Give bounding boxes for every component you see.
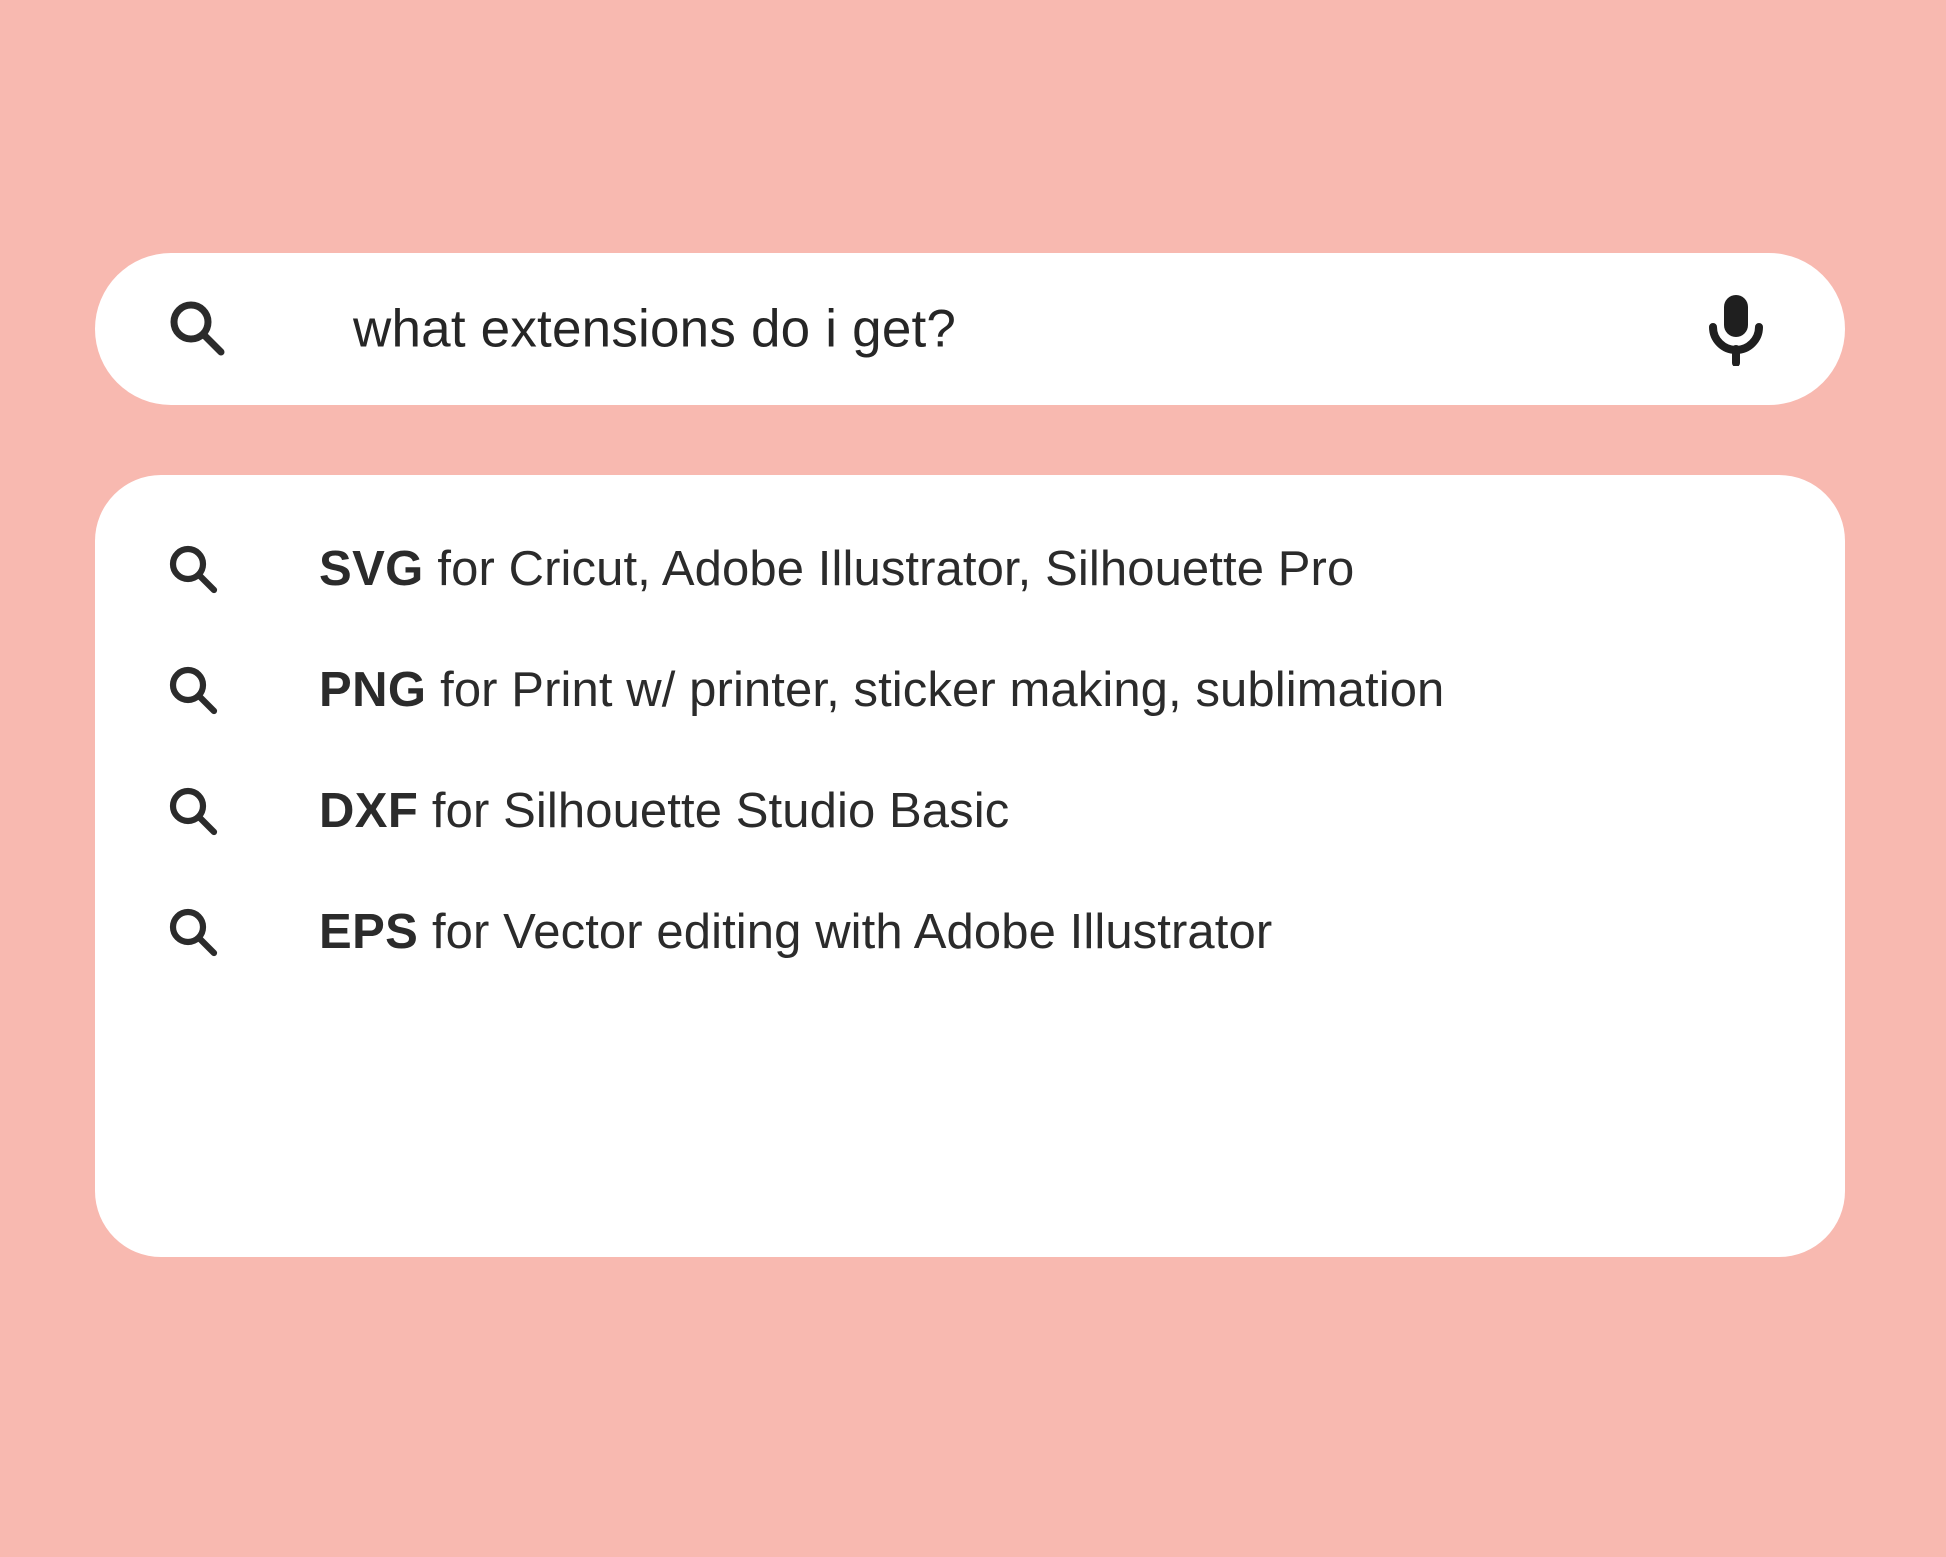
suggestion-row-png[interactable]: PNG for Print w/ printer, sticker making… (95, 630, 1845, 751)
suggestion-row-dxf[interactable]: DXF for Silhouette Studio Basic (95, 751, 1845, 872)
page-canvas: what extensions do i get? SVG for Cricut… (0, 0, 1946, 1557)
search-icon (165, 784, 221, 840)
suggestion-description: for Cricut, Adobe Illustrator, Silhouett… (424, 542, 1355, 596)
search-icon (165, 905, 221, 961)
suggestion-format: PNG (319, 663, 426, 717)
search-input[interactable]: what extensions do i get? (353, 303, 956, 356)
suggestion-label: DXF for Silhouette Studio Basic (319, 787, 1009, 836)
suggestion-description: for Print w/ printer, sticker making, su… (426, 663, 1444, 717)
suggestion-format: DXF (319, 784, 418, 838)
microphone-icon[interactable] (1705, 292, 1767, 366)
search-bar[interactable]: what extensions do i get? (95, 253, 1845, 405)
suggestion-format: EPS (319, 905, 418, 959)
search-icon (165, 663, 221, 719)
suggestion-label: SVG for Cricut, Adobe Illustrator, Silho… (319, 545, 1354, 594)
suggestion-description: for Silhouette Studio Basic (418, 784, 1009, 838)
suggestions-panel: SVG for Cricut, Adobe Illustrator, Silho… (95, 475, 1845, 1257)
search-icon (165, 297, 229, 361)
suggestion-format: SVG (319, 542, 424, 596)
suggestion-row-eps[interactable]: EPS for Vector editing with Adobe Illust… (95, 872, 1845, 993)
suggestion-label: EPS for Vector editing with Adobe Illust… (319, 908, 1272, 957)
suggestion-label: PNG for Print w/ printer, sticker making… (319, 666, 1444, 715)
search-icon (165, 542, 221, 598)
suggestion-description: for Vector editing with Adobe Illustrato… (418, 905, 1272, 959)
suggestion-row-svg[interactable]: SVG for Cricut, Adobe Illustrator, Silho… (95, 509, 1845, 630)
